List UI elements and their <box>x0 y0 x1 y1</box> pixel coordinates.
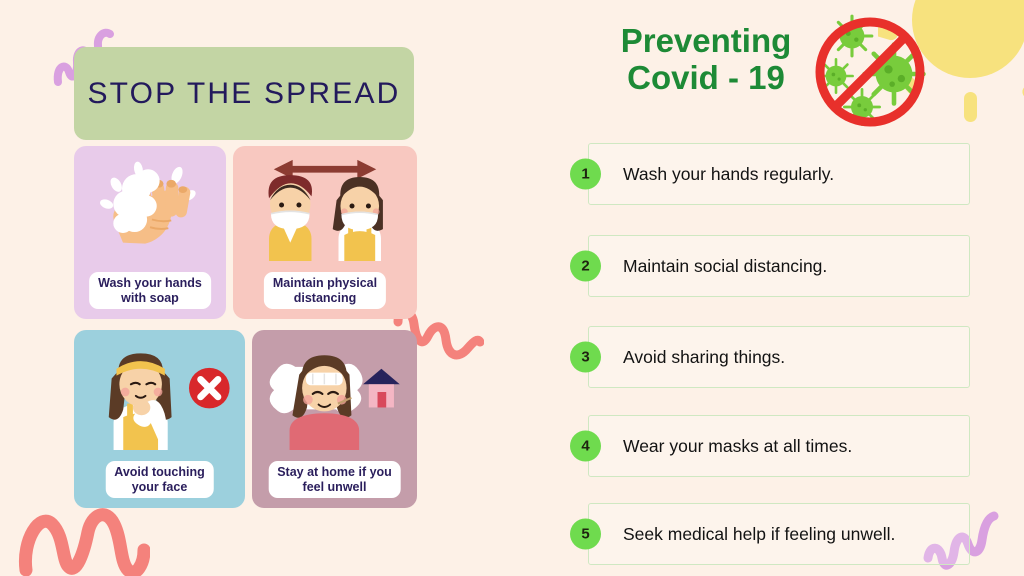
avoid-touching-face-icon <box>74 334 245 450</box>
tip-item[interactable]: 4 Wear your masks at all times. <box>588 415 970 477</box>
card-avoid-touching-your-face[interactable]: Avoid touching your face <box>74 330 245 508</box>
tip-number-badge: 4 <box>570 431 601 462</box>
tip-item[interactable]: 2 Maintain social distancing. <box>588 235 970 297</box>
preventing-covid-panel: Preventing Covid - 19 <box>500 0 1024 576</box>
stop-the-spread-poster: STOP THE SPREAD <box>0 0 500 576</box>
tip-text: Seek medical help if feeling unwell. <box>623 524 905 545</box>
card-label: Avoid touching your face <box>105 461 214 498</box>
tip-number-badge: 2 <box>570 251 601 282</box>
tip-text: Avoid sharing things. <box>623 347 795 368</box>
sick-person-in-bed-icon <box>252 334 417 450</box>
tip-item[interactable]: 1 Wash your hands regularly. <box>588 143 970 205</box>
stop-the-spread-title: STOP THE SPREAD <box>87 77 400 111</box>
no-virus-icon <box>812 14 928 130</box>
tip-number-badge: 3 <box>570 342 601 373</box>
stop-the-spread-banner: STOP THE SPREAD <box>74 47 414 140</box>
card-stay-at-home-if-you-feel-unwell[interactable]: Stay at home if you feel unwell <box>252 330 417 508</box>
card-label: Wash your hands with soap <box>89 272 211 309</box>
physical-distancing-icon <box>233 150 417 261</box>
tip-number-badge: 5 <box>570 519 601 550</box>
tip-text: Wash your hands regularly. <box>623 164 844 185</box>
card-maintain-physical-distancing[interactable]: Maintain physical distancing <box>233 146 417 319</box>
card-label: Stay at home if you feel unwell <box>268 461 401 498</box>
tip-text: Wear your masks at all times. <box>623 436 862 457</box>
washing-hands-icon <box>74 150 226 261</box>
tip-item[interactable]: 3 Avoid sharing things. <box>588 326 970 388</box>
page-title: Preventing Covid - 19 <box>596 22 816 96</box>
card-wash-your-hands-with-soap[interactable]: Wash your hands with soap <box>74 146 226 319</box>
card-label: Maintain physical distancing <box>264 272 386 309</box>
tip-item[interactable]: 5 Seek medical help if feeling unwell. <box>588 503 970 565</box>
tip-text: Maintain social distancing. <box>623 256 837 277</box>
tip-number-badge: 1 <box>570 159 601 190</box>
